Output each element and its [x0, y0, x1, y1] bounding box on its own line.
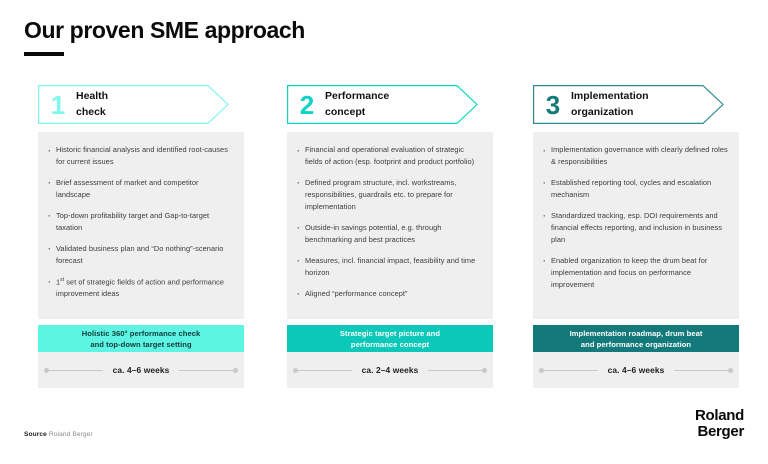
bullet-item: Brief assessment of market and competito… [47, 177, 233, 201]
step-header-chevron-3: 3 Implementation organization [533, 85, 724, 124]
step-number-1: 1 [46, 92, 70, 118]
bullet-list-2: Financial and operational evaluation of … [296, 144, 482, 300]
step-timeline-1: ca. 4–6 weeks [38, 352, 244, 388]
roland-berger-logo: Roland Berger [695, 408, 744, 440]
banner-text-1: Holistic 360° performance check and top-… [82, 328, 201, 350]
bullet-item: Measures, incl. financial impact, feasib… [296, 255, 482, 279]
timeline-dot-right-2 [482, 368, 487, 373]
step-content-panel-3: Implementation governance with clearly d… [533, 132, 739, 319]
timeline-duration-3: ca. 4–6 weeks [598, 365, 675, 375]
bullet-list-1: Historic financial analysis and identifi… [47, 144, 233, 300]
bullet-item: 1st set of strategic fields of action an… [47, 276, 233, 300]
approach-step-3: 3 Implementation organization Implementa… [533, 85, 742, 388]
timeline-dot-left-1 [44, 368, 49, 373]
step-title-line1-2: Performance [325, 89, 389, 104]
step-title-3: Implementation organization [571, 89, 649, 119]
bullet-item: Enabled organization to keep the drum be… [542, 255, 728, 291]
bullet-list-3: Implementation governance with clearly d… [542, 144, 728, 291]
step-header-chevron-1: 1 Health check [38, 85, 229, 124]
source-note: Source Roland Berger [24, 431, 93, 438]
bullet-item: Implementation governance with clearly d… [542, 144, 728, 168]
approach-step-2: 2 Performance concept Financial and oper… [287, 85, 496, 388]
step-content-panel-2: Financial and operational evaluation of … [287, 132, 493, 319]
banner-text-3: Implementation roadmap, drum beat and pe… [570, 328, 703, 350]
bullet-item: Defined program structure, incl. workstr… [296, 177, 482, 213]
step-header-content-3: 3 Implementation organization [533, 85, 724, 124]
banner-text-2: Strategic target picture and performance… [340, 328, 440, 350]
step-title-1: Health check [76, 89, 108, 119]
bullet-item: Outside-in savings potential, e.g. throu… [296, 222, 482, 246]
title-block: Our proven SME approach [24, 18, 305, 56]
logo-line1: Roland [695, 408, 744, 424]
timeline-dot-right-3 [728, 368, 733, 373]
banner-line1-3: Implementation roadmap, drum beat [570, 328, 703, 339]
step-summary-banner-1: Holistic 360° performance check and top-… [38, 325, 244, 352]
step-number-2: 2 [295, 92, 319, 118]
step-number-3: 3 [541, 92, 565, 118]
step-timeline-2: ca. 2–4 weeks [287, 352, 493, 388]
slide-canvas: Our proven SME approach 1 Health check H… [0, 0, 768, 464]
timeline-dot-left-2 [293, 368, 298, 373]
bullet-item: Established reporting tool, cycles and e… [542, 177, 728, 201]
source-label: Source [24, 431, 47, 438]
banner-line1-2: Strategic target picture and [340, 328, 440, 339]
timeline-dot-right-1 [233, 368, 238, 373]
step-title-line1-1: Health [76, 89, 108, 104]
step-content-panel-1: Historic financial analysis and identifi… [38, 132, 244, 319]
title-underline-rule [24, 52, 64, 56]
banner-line2-1: and top-down target setting [82, 339, 201, 350]
bullet-item: Validated business plan and “Do nothing”… [47, 243, 233, 267]
step-title-line2-2: concept [325, 105, 389, 120]
step-header-content-1: 1 Health check [38, 85, 229, 124]
step-header-chevron-2: 2 Performance concept [287, 85, 478, 124]
approach-columns: 1 Health check Historic financial analys… [0, 85, 768, 385]
step-title-line1-3: Implementation [571, 89, 649, 104]
source-value: Roland Berger [49, 431, 93, 438]
step-summary-banner-3: Implementation roadmap, drum beat and pe… [533, 325, 739, 352]
timeline-duration-1: ca. 4–6 weeks [103, 365, 180, 375]
step-timeline-3: ca. 4–6 weeks [533, 352, 739, 388]
step-header-content-2: 2 Performance concept [287, 85, 478, 124]
banner-line1-1: Holistic 360° performance check [82, 328, 201, 339]
timeline-duration-2: ca. 2–4 weeks [352, 365, 429, 375]
step-title-2: Performance concept [325, 89, 389, 119]
page-title: Our proven SME approach [24, 18, 305, 43]
banner-line2-3: and performance organization [570, 339, 703, 350]
bullet-item: Standardized tracking, esp. DOI requirem… [542, 210, 728, 246]
bullet-item: Aligned “performance concept” [296, 288, 482, 300]
logo-line2: Berger [695, 424, 744, 440]
banner-line2-2: performance concept [340, 339, 440, 350]
timeline-dot-left-3 [539, 368, 544, 373]
bullet-item: Financial and operational evaluation of … [296, 144, 482, 168]
step-title-line2-3: organization [571, 105, 649, 120]
bullet-item: Top-down profitability target and Gap-to… [47, 210, 233, 234]
approach-step-1: 1 Health check Historic financial analys… [38, 85, 247, 388]
bullet-item: Historic financial analysis and identifi… [47, 144, 233, 168]
step-title-line2-1: check [76, 105, 108, 120]
step-summary-banner-2: Strategic target picture and performance… [287, 325, 493, 352]
